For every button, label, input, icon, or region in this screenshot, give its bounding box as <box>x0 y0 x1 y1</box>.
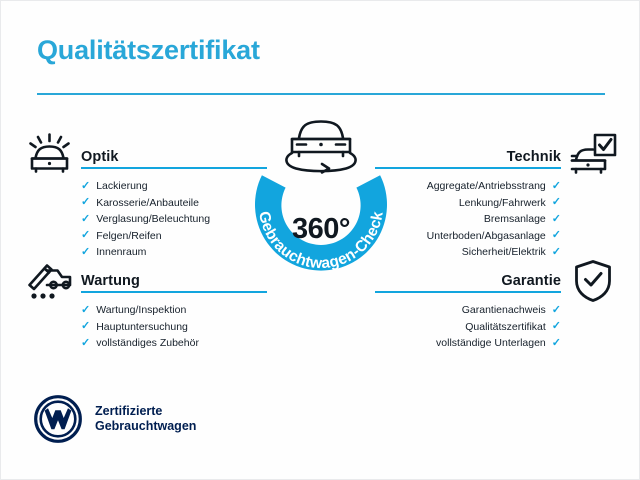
check-icon: ✓ <box>552 214 561 225</box>
section-divider <box>81 291 267 293</box>
car-wrench-icon <box>25 257 73 306</box>
check-icon: ✓ <box>81 181 90 192</box>
footer-line-2: Gebrauchtwagen <box>95 419 196 435</box>
item-label: vollständiges Zubehör <box>96 335 199 352</box>
car-rotate-icon <box>275 113 367 177</box>
check-icon: ✓ <box>81 305 90 316</box>
item-label: Lackierung <box>96 178 147 195</box>
list-item: ✓vollständige Unterlagen <box>375 335 561 352</box>
page-title: Qualitätszertifikat <box>37 35 260 66</box>
checklist: ✓Garantienachweis ✓Qualitätszertifikat ✓… <box>375 302 561 352</box>
item-label: Bremsanlage <box>484 211 546 228</box>
shield-check-icon <box>573 259 613 308</box>
list-item: ✓Qualitätszertifikat <box>375 319 561 336</box>
check-icon: ✓ <box>81 338 90 349</box>
check-icon: ✓ <box>552 230 561 241</box>
car-front-lights-icon <box>27 133 73 178</box>
item-label: Karosserie/Anbauteile <box>96 195 199 212</box>
item-label: Felgen/Reifen <box>96 228 161 245</box>
section-title: Technik <box>507 149 561 165</box>
certificate-page: Qualitätszertifikat <box>0 0 640 480</box>
item-label: Innenraum <box>96 244 146 261</box>
section-title: Optik <box>81 149 119 165</box>
check-icon: ✓ <box>81 230 90 241</box>
list-item: ✓vollständiges Zubehör <box>81 335 267 352</box>
check-icon: ✓ <box>552 321 561 332</box>
check-icon: ✓ <box>552 338 561 349</box>
list-item: ✓Hauptuntersuchung <box>81 319 267 336</box>
check-icon: ✓ <box>81 321 90 332</box>
check-icon: ✓ <box>81 197 90 208</box>
check-icon: ✓ <box>552 305 561 316</box>
item-label: vollständige Unterlagen <box>436 335 546 352</box>
section-divider <box>375 291 561 293</box>
item-label: Verglasung/Beleuchtung <box>96 211 210 228</box>
item-label: Sicherheit/Elektrik <box>462 244 546 261</box>
check-icon: ✓ <box>81 247 90 258</box>
footer-brand: Zertifizierte Gebrauchtwagen <box>34 395 196 443</box>
item-label: Wartung/Inspektion <box>96 302 186 319</box>
list-item: ✓Garantienachweis <box>375 302 561 319</box>
check-icon: ✓ <box>81 214 90 225</box>
title-divider <box>37 93 605 95</box>
list-item: ✓Wartung/Inspektion <box>81 302 267 319</box>
footer-text: Zertifizierte Gebrauchtwagen <box>95 404 196 435</box>
item-label: Hauptuntersuchung <box>96 319 188 336</box>
car-checkbox-icon <box>569 133 617 180</box>
check-icon: ✓ <box>552 181 561 192</box>
item-label: Aggregate/Antriebsstrang <box>427 178 546 195</box>
check-icon: ✓ <box>552 247 561 258</box>
badge-degrees: 360° <box>236 213 406 246</box>
item-label: Qualitätszertifikat <box>465 319 546 336</box>
item-label: Unterboden/Abgasanlage <box>427 228 546 245</box>
360-check-badge: Gebrauchtwagen-Check 360° <box>236 121 406 291</box>
check-icon: ✓ <box>552 197 561 208</box>
item-label: Lenkung/Fahrwerk <box>459 195 546 212</box>
item-label: Garantienachweis <box>462 302 546 319</box>
section-title: Garantie <box>501 273 561 289</box>
volkswagen-logo <box>34 395 82 443</box>
checklist: ✓Wartung/Inspektion ✓Hauptuntersuchung ✓… <box>81 302 267 352</box>
section-title: Wartung <box>81 273 140 289</box>
footer-line-1: Zertifizierte <box>95 404 196 420</box>
